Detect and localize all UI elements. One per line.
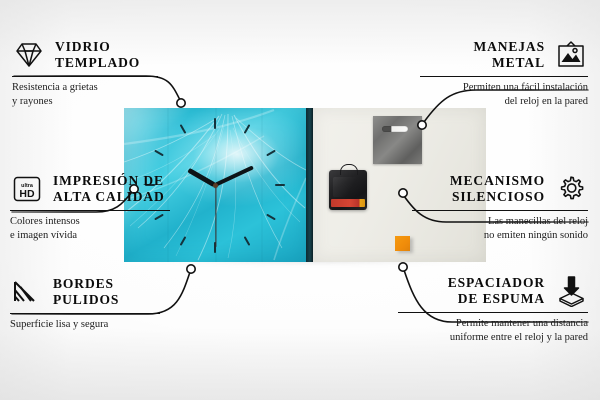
feature-title: VIDRIO TEMPLADO xyxy=(55,39,140,71)
diagonal-stripes-icon xyxy=(10,275,44,309)
title-line-2: SILENCIOSO xyxy=(450,189,545,205)
foam-spacer xyxy=(395,236,410,251)
title-underline xyxy=(412,210,588,211)
feature-mecanismo-silencioso: MECANISMO SILENCIOSO Las manecillas del … xyxy=(412,172,588,243)
diamond-icon xyxy=(12,38,46,72)
desc-line-2: no emiten ningún sonido xyxy=(412,229,588,243)
clock-center-cap xyxy=(213,183,218,188)
feature-title: BORDES PULIDOS xyxy=(53,276,119,308)
feature-description: Permiten una fácil instalación del reloj… xyxy=(420,81,588,109)
feature-title: IMPRESIÓN DE ALTA CALIDAD xyxy=(53,173,165,205)
desc-line-1: Colores intensos xyxy=(10,215,190,229)
clock-movement-box xyxy=(329,170,367,210)
desc-line-2: y rayones xyxy=(12,95,172,109)
ultra-hd-icon: ultra HD xyxy=(10,172,44,206)
clock-second-hand xyxy=(215,185,216,247)
desc-line-1: Permiten una fácil instalación xyxy=(420,81,588,95)
desc-line-1: Resistencia a grietas xyxy=(12,81,172,95)
desc-line-2: uniforme entre el reloj y la pared xyxy=(398,331,588,345)
desc-line-2: e imagen vívida xyxy=(10,229,190,243)
feature-manejas-metal: MANEJAS METAL Permiten una fácil instala… xyxy=(420,38,588,109)
movement-surface-detail xyxy=(333,177,363,197)
hanger-keyhole-slot xyxy=(382,126,408,132)
feature-title: ESPACIADOR DE ESPUMA xyxy=(448,275,545,307)
desc-line-1: Las manecillas del reloj xyxy=(412,215,588,229)
metal-hanger-plate xyxy=(373,116,422,164)
feature-description: Permite mantener una distancia uniforme … xyxy=(398,317,588,345)
feature-impresion-alta-calidad: ultra HD IMPRESIÓN DE ALTA CALIDAD Color… xyxy=(10,172,190,243)
desc-line-1: Permite mantener una distancia xyxy=(398,317,588,331)
title-line-2: METAL xyxy=(473,55,545,71)
arrow-onto-foam-icon xyxy=(554,274,588,308)
title-line-1: VIDRIO xyxy=(55,39,140,55)
title-line-2: DE ESPUMA xyxy=(448,291,545,307)
feature-vidrio-templado: VIDRIO TEMPLADO Resistencia a grietas y … xyxy=(12,38,172,109)
title-underline xyxy=(10,210,170,211)
feature-description: Superficie lisa y segura xyxy=(10,318,180,332)
movement-hanging-loop xyxy=(340,164,358,175)
title-underline xyxy=(398,312,588,313)
battery xyxy=(331,199,365,207)
endpoint-dot-vidrio-templado xyxy=(177,99,185,107)
feature-espaciador-espuma: ESPACIADOR DE ESPUMA Permite mantener un… xyxy=(398,274,588,345)
title-line-2: TEMPLADO xyxy=(55,55,140,71)
feature-title: MECANISMO SILENCIOSO xyxy=(450,173,545,205)
feature-title: MANEJAS METAL xyxy=(473,39,545,71)
product-infographic: VIDRIO TEMPLADO Resistencia a grietas y … xyxy=(0,0,600,400)
title-line-1: MECANISMO xyxy=(450,173,545,189)
desc-line-1: Superficie lisa y segura xyxy=(10,318,180,332)
desc-line-2: del reloj en la pared xyxy=(420,95,588,109)
title-underline xyxy=(420,76,588,77)
feature-description: Colores intensos e imagen vívida xyxy=(10,215,190,243)
title-line-1: BORDES xyxy=(53,276,119,292)
title-underline xyxy=(12,76,158,77)
gear-icon xyxy=(554,172,588,206)
title-underline xyxy=(10,313,160,314)
title-line-1: MANEJAS xyxy=(473,39,545,55)
feature-description: Las manecillas del reloj no emiten ningú… xyxy=(412,215,588,243)
clock-edge xyxy=(306,108,313,262)
title-line-1: ESPACIADOR xyxy=(448,275,545,291)
feature-description: Resistencia a grietas y rayones xyxy=(12,81,172,109)
ultra-hd-icon-large-text: HD xyxy=(19,188,35,200)
feature-bordes-pulidos: BORDES PULIDOS Superficie lisa y segura xyxy=(10,275,180,332)
title-line-2: PULIDOS xyxy=(53,292,119,308)
title-line-2: ALTA CALIDAD xyxy=(53,189,165,205)
title-line-1: IMPRESIÓN DE xyxy=(53,173,165,189)
picture-frame-icon xyxy=(554,38,588,72)
